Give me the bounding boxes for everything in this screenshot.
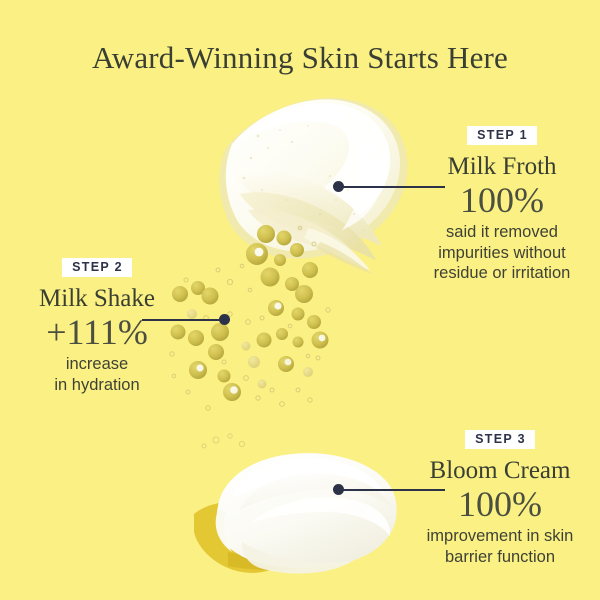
- step-stat-1: 100%: [408, 182, 596, 220]
- step-description-1: said it removed impurities without resid…: [408, 222, 596, 282]
- step-description-3: improvement in skin barrier function: [404, 526, 596, 566]
- connector-dot-step-2: [219, 314, 230, 325]
- step-block-2: STEP 2 Milk Shake +111% increase in hydr…: [8, 258, 186, 395]
- step-product-name-3: Bloom Cream: [404, 457, 596, 485]
- step-stat-2: +111%: [8, 314, 186, 352]
- step-description-line-1-3: residue or irritation: [408, 263, 596, 283]
- step-description-line-3-2: barrier function: [404, 547, 596, 567]
- step-description-line-1-1: said it removed: [408, 222, 596, 242]
- step-stat-3: 100%: [404, 486, 596, 524]
- step-badge-1: STEP 1: [467, 126, 537, 145]
- page-title: Award-Winning Skin Starts Here: [0, 40, 600, 76]
- step-description-line-2-2: in hydration: [8, 375, 186, 395]
- promo-graphic: Award-Winning Skin Starts Here STEP 1 Mi…: [0, 0, 600, 600]
- step-description-line-3-1: improvement in skin: [404, 526, 596, 546]
- step-block-3: STEP 3 Bloom Cream 100% improvement in s…: [404, 430, 596, 567]
- step-description-line-1-2: impurities without: [408, 243, 596, 263]
- step-description-2: increase in hydration: [8, 354, 186, 394]
- step-badge-2: STEP 2: [62, 258, 132, 277]
- step-product-name-2: Milk Shake: [8, 285, 186, 313]
- step-product-name-1: Milk Froth: [408, 153, 596, 181]
- step-block-1: STEP 1 Milk Froth 100% said it removed i…: [408, 126, 596, 283]
- milk-froth-swatch: [196, 78, 426, 273]
- step-description-line-2-1: increase: [8, 354, 186, 374]
- step-badge-3: STEP 3: [465, 430, 535, 449]
- bloom-cream-swatch: [188, 432, 418, 600]
